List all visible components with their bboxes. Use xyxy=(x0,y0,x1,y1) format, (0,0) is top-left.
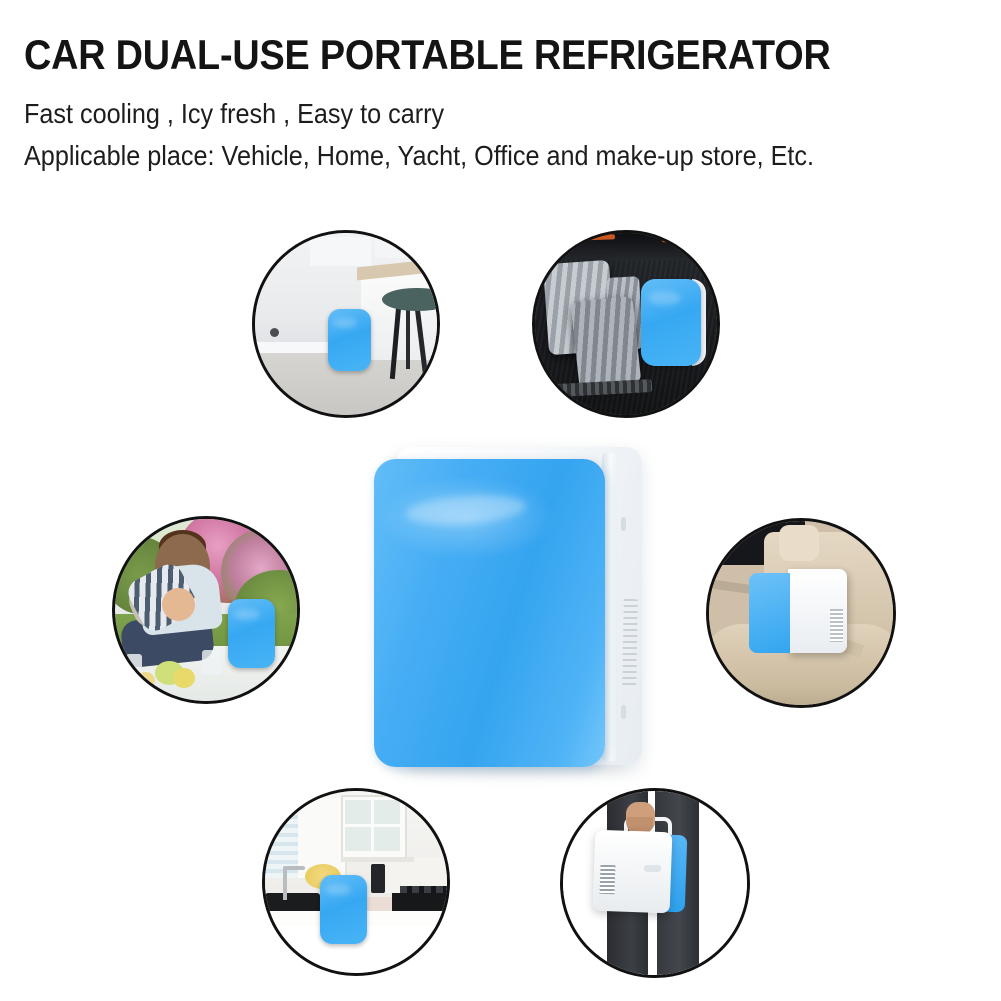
hero-refrigerator xyxy=(374,447,642,772)
product-banner: CAR DUAL-USE PORTABLE REFRIGERATOR Fast … xyxy=(0,0,1001,1001)
scene-circle-car-seat xyxy=(706,518,896,708)
subtitle-applicable-place: Applicable place: Vehicle, Home, Yacht, … xyxy=(24,136,879,176)
scene-circle-kitchen xyxy=(262,788,450,976)
scene-circle-car-trunk xyxy=(532,230,720,418)
scene-circle-office xyxy=(252,230,440,418)
faucet-icon xyxy=(283,867,287,900)
home-kitchen-scene xyxy=(265,791,447,973)
mini-refrigerator xyxy=(320,875,367,944)
scene-circle-carrying xyxy=(560,788,750,978)
hinge-icon xyxy=(621,517,626,531)
vent-icon xyxy=(622,599,638,687)
mini-refrigerator xyxy=(328,309,372,371)
page-title: CAR DUAL-USE PORTABLE REFRIGERATOR xyxy=(24,30,879,80)
header: CAR DUAL-USE PORTABLE REFRIGERATOR Fast … xyxy=(24,30,974,176)
vent-icon xyxy=(830,609,843,642)
office-counter-scene xyxy=(255,233,437,415)
mini-refrigerator xyxy=(641,279,701,366)
outdoor-picnic-scene xyxy=(115,519,297,701)
car-back-seat-scene xyxy=(709,521,893,705)
hinge-icon xyxy=(621,705,626,719)
control-panel-icon xyxy=(371,864,386,893)
suitcase-icon xyxy=(571,296,642,389)
subtitle-features: Fast cooling , Icy fresh , Easy to carry xyxy=(24,94,879,134)
mini-refrigerator xyxy=(228,599,275,668)
person-carrying-scene xyxy=(563,791,747,975)
refrigerator-door xyxy=(374,459,605,767)
scene-circle-picnic xyxy=(112,516,300,704)
vent-icon xyxy=(599,864,615,894)
car-trunk-scene xyxy=(535,233,717,415)
